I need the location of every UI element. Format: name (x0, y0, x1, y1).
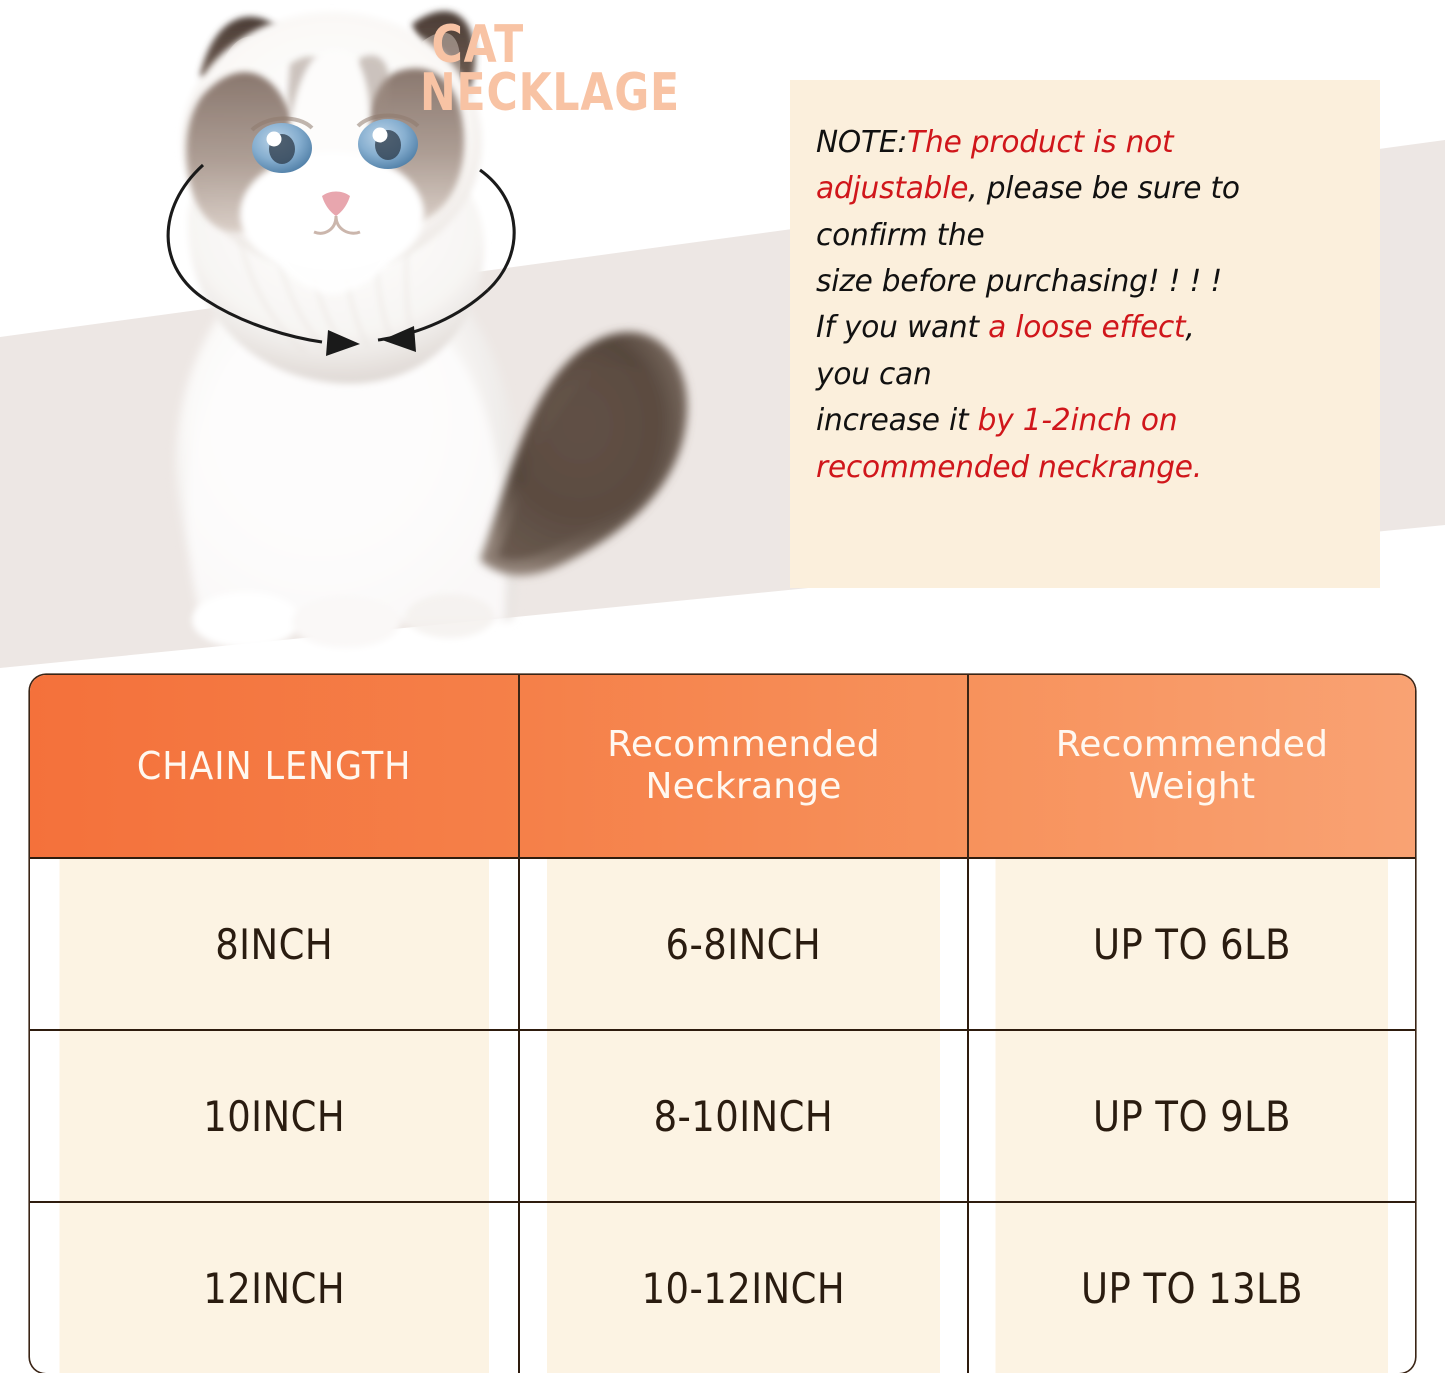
cell-weight: UP TO 13LB (995, 1202, 1388, 1373)
table-header: CHAIN LENGTH Recommended Neckrange Recom… (30, 675, 1415, 858)
cell-chain-length: 8INCH (59, 858, 489, 1030)
note-line-7: increase it by 1-2inch on (816, 398, 1338, 444)
note-line-5: If you want a loose effect, (816, 305, 1338, 351)
table-row: 12INCH 10-12INCH UP TO 13LB (30, 1202, 1415, 1373)
table-row: 10INCH 8-10INCH UP TO 9LB (30, 1030, 1415, 1202)
cell-neckrange: 10-12INCH (546, 1202, 941, 1373)
table-body: 8INCH 6-8INCH UP TO 6LB 10INCH 8-10INCH … (30, 858, 1415, 1373)
cat-paws (192, 592, 494, 648)
size-chart-table: CHAIN LENGTH Recommended Neckrange Recom… (30, 675, 1415, 1373)
column-header-neckrange-line2: Neckrange (520, 766, 967, 808)
column-header-neckrange: Recommended Neckrange (519, 675, 968, 858)
table-row: 8INCH 6-8INCH UP TO 6LB (30, 858, 1415, 1030)
note-plain-2: If you want (816, 310, 988, 345)
column-header-weight: Recommended Weight (968, 675, 1415, 858)
note-line-6: you can (816, 352, 1338, 398)
note-line-8: recommended neckrange. (816, 445, 1338, 491)
note-emphasis-1a: The product is not (907, 125, 1173, 160)
note-plain-3: , (1185, 310, 1194, 345)
cell-chain-length: 12INCH (59, 1202, 489, 1373)
note-plain-1: , please be sure to (968, 171, 1239, 206)
column-header-chain-length-line1: CHAIN LENGTH (50, 744, 499, 789)
note-line-4: size before purchasing! ! ! ! (816, 259, 1338, 305)
note-line-2: adjustable, please be sure to (816, 166, 1338, 212)
note-emphasis-2: a loose effect (988, 310, 1185, 345)
table-header-row: CHAIN LENGTH Recommended Neckrange Recom… (30, 675, 1415, 858)
note-text: NOTE:The product is not adjustable, plea… (816, 120, 1338, 491)
note-emphasis-1b: adjustable (816, 171, 968, 206)
page-title: CAT NECKLAGE (420, 22, 666, 118)
note-plain-4: increase it (816, 403, 978, 438)
cell-neckrange: 6-8INCH (546, 858, 941, 1030)
column-header-neckrange-line1: Recommended (520, 724, 967, 766)
cell-weight: UP TO 9LB (995, 1030, 1388, 1202)
note-emphasis-3a: by 1-2inch on (978, 403, 1178, 438)
cell-chain-length: 10INCH (59, 1030, 489, 1202)
column-header-chain-length: CHAIN LENGTH (30, 675, 519, 858)
note-label: NOTE: (816, 125, 907, 160)
cell-neckrange: 8-10INCH (546, 1030, 941, 1202)
note-line-3: confirm the (816, 213, 1338, 259)
column-header-weight-line1: Recommended (969, 724, 1415, 766)
note-line-1: NOTE:The product is not (816, 120, 1338, 166)
column-header-weight-line2: Weight (969, 766, 1415, 808)
note-panel: NOTE:The product is not adjustable, plea… (790, 80, 1380, 588)
cell-weight: UP TO 6LB (995, 858, 1388, 1030)
title-line-2: NECKLAGE (420, 70, 666, 118)
